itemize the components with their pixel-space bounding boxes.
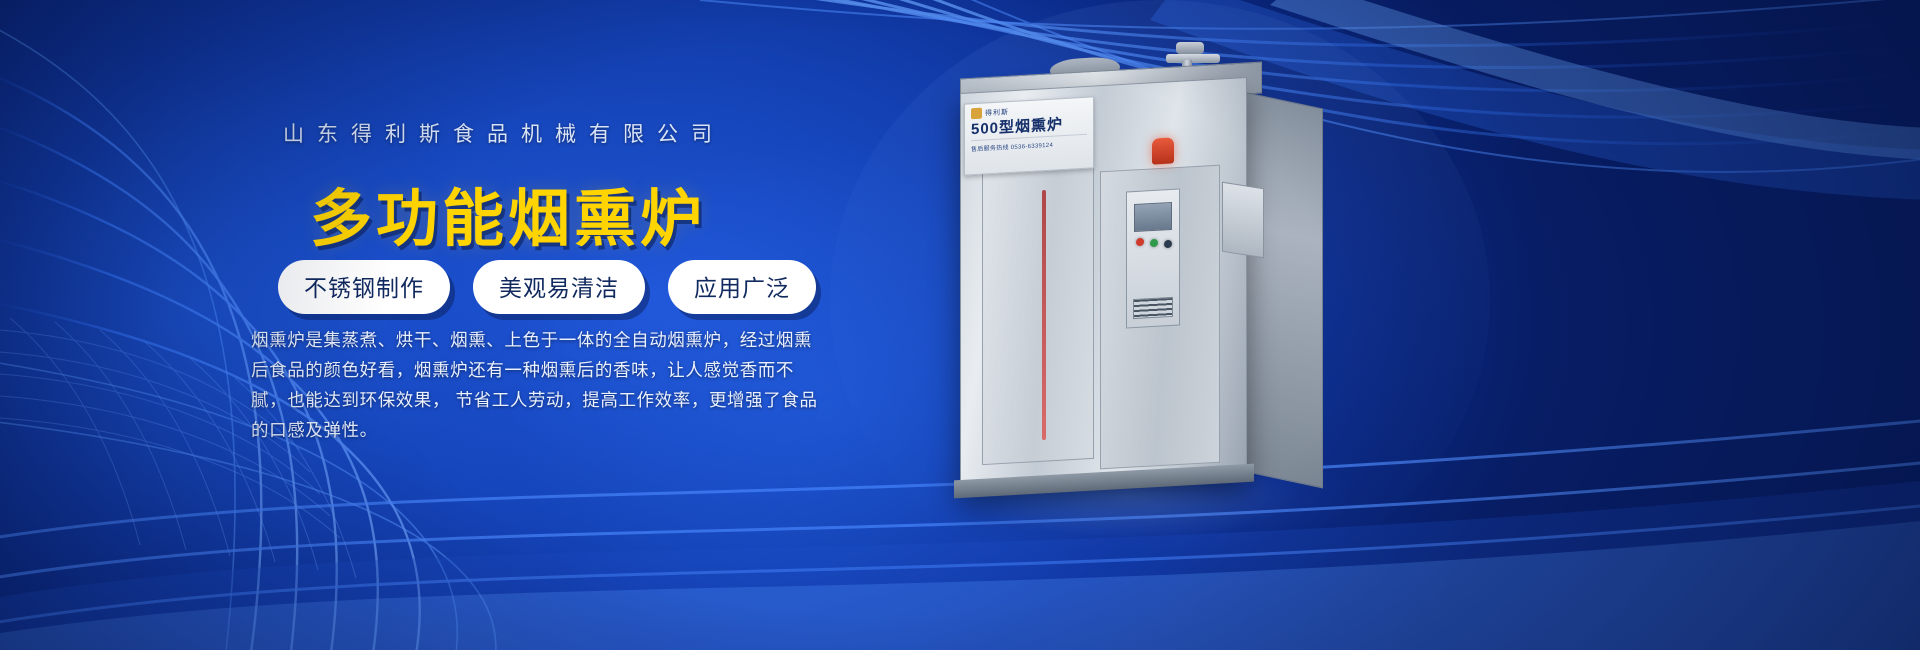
company-name: 山东得利斯食品机械有限公司 [283,118,725,148]
nameplate-service-label: 售后服务热线 [971,145,1009,153]
top-pipe-horizontal [1166,54,1220,63]
door-handle [1042,190,1046,440]
page-title: 多功能烟熏炉 [310,168,706,258]
nameplate-brand: 得利斯 [985,107,1009,118]
cabinet-side-panel [1243,91,1323,488]
feature-pill-easy-clean[interactable]: 美观易清洁 [473,260,645,314]
product-description: 烟熏炉是集蒸煮、烘干、烟熏、上色于一体的全自动烟熏炉，经过烟熏后食品的颜色好看，… [251,325,821,445]
side-control-box [1222,182,1264,259]
brand-mark-icon [971,108,982,120]
cabinet-door-left [982,157,1094,465]
top-valve [1176,42,1204,54]
smokehouse-oven-image: 得利斯 500型烟熏炉 售后服务热线 0536-6339124 [930,40,1330,520]
feature-pill-list: 不锈钢制作 美观易清洁 应用广泛 [278,260,816,314]
banner-text-content: 山东得利斯食品机械有限公司 多功能烟熏炉 不锈钢制作 美观易清洁 应用广泛 烟熏… [0,0,900,650]
machine-nameplate: 得利斯 500型烟熏炉 售后服务热线 0536-6339124 [964,96,1094,175]
feature-pill-stainless[interactable]: 不锈钢制作 [278,260,450,314]
product-banner: 山东得利斯食品机械有限公司 多功能烟熏炉 不锈钢制作 美观易清洁 应用广泛 烟熏… [0,0,1920,650]
nameplate-phone: 0536-6339124 [1011,143,1053,151]
alarm-lamp [1152,137,1174,164]
feature-pill-wide-use[interactable]: 应用广泛 [668,260,816,314]
panel-vent-grille [1133,297,1173,319]
control-display [1134,202,1172,232]
